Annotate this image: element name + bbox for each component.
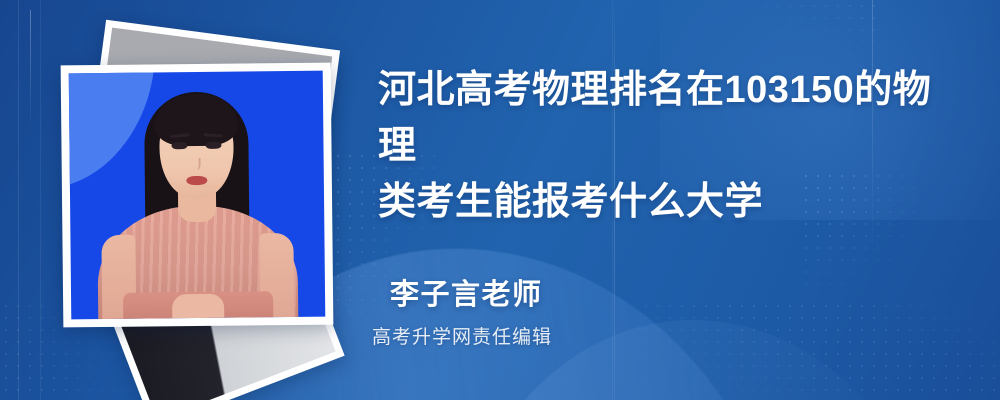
photo-card-front — [61, 63, 334, 328]
portrait-eye-left — [171, 142, 187, 149]
article-header-banner: 河北高考物理排名在103150的物理 类考生能报考什么大学 李子言老师 高考升学… — [0, 0, 1000, 400]
page-title: 河北高考物理排名在103150的物理 类考生能报考什么大学 — [378, 62, 968, 230]
author-portrait-photo — [69, 71, 326, 320]
headline-block: 河北高考物理排名在103150的物理 类考生能报考什么大学 — [378, 62, 968, 230]
author-role: 高考升学网责任编辑 — [372, 322, 552, 349]
portrait-hands — [172, 294, 224, 319]
page-title-line-1: 河北高考物理排名在103150的物理 — [378, 62, 968, 174]
portrait-illustration — [69, 71, 326, 320]
portrait-eye-right — [205, 142, 221, 149]
portrait-nose — [193, 158, 201, 170]
author-photo-stack — [52, 28, 342, 358]
author-name: 李子言老师 — [390, 271, 552, 313]
page-title-line-2: 类考生能报考什么大学 — [378, 174, 968, 230]
background-dot-pattern-top-right — [760, 0, 880, 70]
author-byline: 李子言老师 高考升学网责任编辑 — [390, 271, 552, 349]
background-dot-pattern-bottom-right — [640, 300, 1000, 400]
portrait-mouth — [186, 176, 207, 185]
